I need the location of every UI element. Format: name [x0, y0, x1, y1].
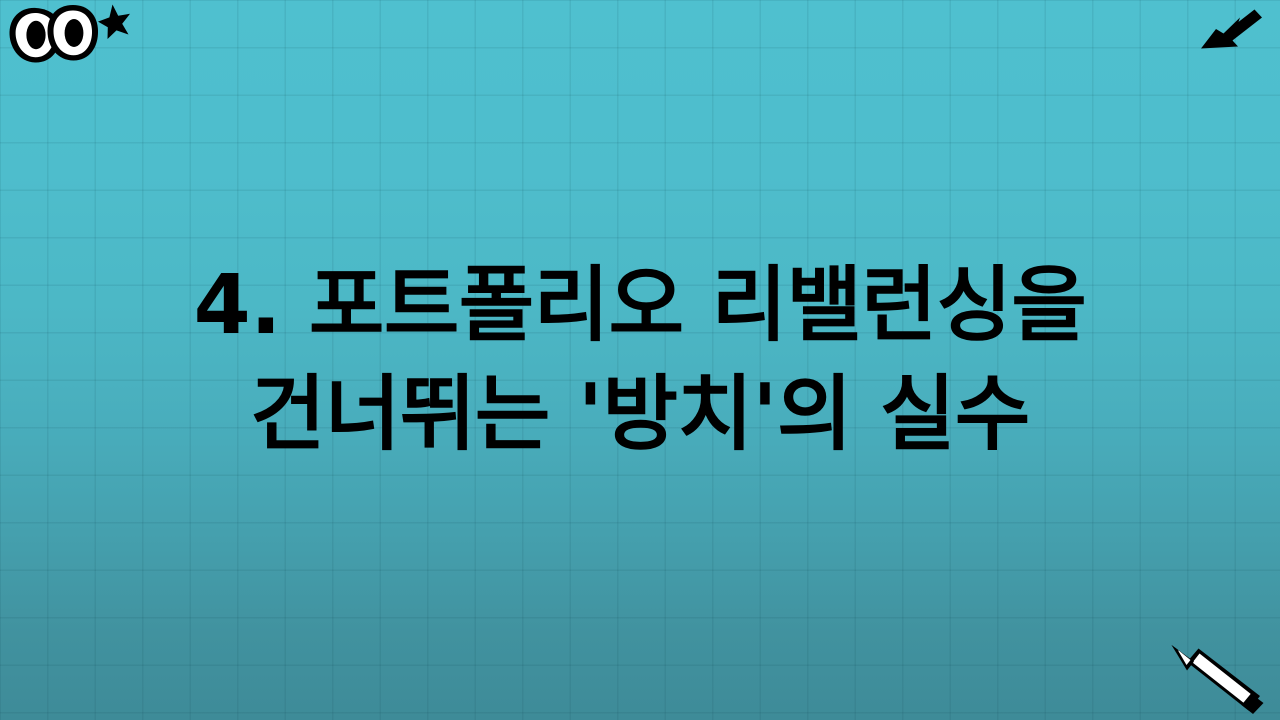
page-title: 4. 포트폴리오 리밸런싱을 건너뛰는 '방치'의 실수 [0, 0, 1280, 720]
headline-line-1: 4. 포트폴리오 리밸런싱을 [194, 251, 1087, 360]
slide-canvas: 4. 포트폴리오 리밸런싱을 건너뛰는 '방치'의 실수 [0, 0, 1280, 720]
headline-line-2: 건너뛰는 '방치'의 실수 [250, 360, 1030, 469]
